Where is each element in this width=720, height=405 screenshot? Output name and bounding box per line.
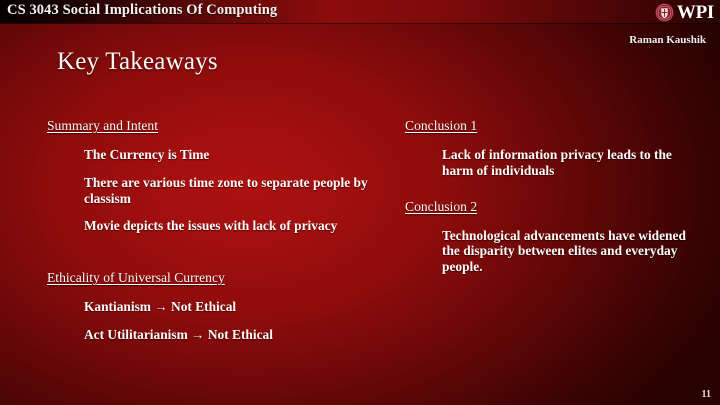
group-heading: Conclusion 1	[405, 118, 705, 135]
bullet-item: Technological advancements have widened …	[442, 228, 705, 275]
wpi-logo: WPI	[655, 0, 714, 24]
slide-title: Key Takeaways	[57, 48, 218, 76]
group-heading: Conclusion 2	[405, 199, 705, 216]
bullet-item: Lack of information privacy leads to the…	[442, 147, 705, 179]
group-heading: Ethicality of Universal Currency	[47, 270, 377, 287]
content-group-conclusion-2: Conclusion 2 Technological advancements …	[405, 199, 705, 275]
bullet-item: Act Utilitarianism → Not Ethical	[84, 327, 377, 343]
bullet-item: The Currency is Time	[84, 147, 377, 163]
content-group-conclusion-1: Conclusion 1 Lack of information privacy…	[405, 118, 705, 179]
content-column-right: Conclusion 1 Lack of information privacy…	[405, 118, 705, 275]
slide-number: 11	[702, 389, 711, 400]
wpi-seal-icon	[655, 3, 674, 22]
bullet-item: Movie depicts the issues with lack of pr…	[84, 218, 377, 234]
content-group-summary: Summary and Intent The Currency is Time …	[47, 118, 377, 234]
content-group-ethicality: Ethicality of Universal Currency Kantian…	[47, 270, 377, 343]
group-heading: Summary and Intent	[47, 118, 377, 135]
course-title: CS 3043 Social Implications Of Computing	[7, 2, 277, 19]
bullet-item: There are various time zone to separate …	[84, 175, 377, 207]
bullet-item: Kantianism → Not Ethical	[84, 299, 377, 315]
content-column-left: Summary and Intent The Currency is Time …	[47, 118, 377, 355]
wpi-wordmark: WPI	[677, 3, 714, 22]
author-name: Raman Kaushik	[629, 34, 706, 46]
presentation-slide: CS 3043 Social Implications Of Computing…	[0, 0, 720, 405]
